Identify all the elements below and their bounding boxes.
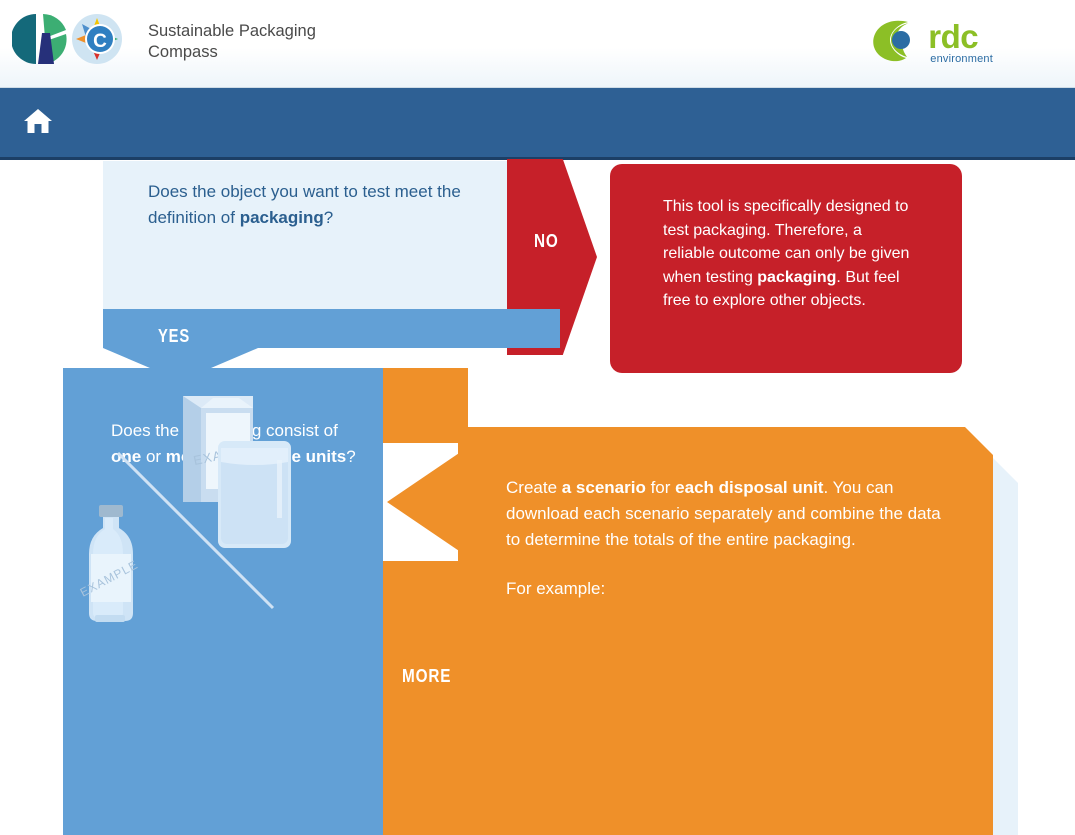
question-2-bold1: one xyxy=(111,447,141,466)
rdc-leaf-icon xyxy=(868,14,920,71)
branch-more-label: MORE xyxy=(402,666,451,687)
branch-yes-label: YES xyxy=(158,326,190,347)
branch-more-arrow xyxy=(383,368,468,835)
home-icon xyxy=(23,108,53,140)
rdc-wordmark: rdc xyxy=(928,20,993,53)
branch-no-label: NO xyxy=(534,231,559,252)
compass-logo-icon: C xyxy=(12,8,130,75)
question-1-bold: packaging xyxy=(240,208,324,227)
decision-flow: Does the object you want to test meet th… xyxy=(0,161,1075,835)
svg-text:EXAMPLE: EXAMPLE xyxy=(78,557,141,599)
answer-more-part1: Create xyxy=(506,478,562,497)
home-button[interactable] xyxy=(16,102,60,146)
question-2-text: Does the packaging consist of one or mor… xyxy=(111,418,361,470)
answer-more-text: Create a scenario for each disposal unit… xyxy=(506,475,946,553)
question-1-part2: ? xyxy=(324,208,333,227)
answer-more-bold1: a scenario xyxy=(562,478,646,497)
navbar xyxy=(0,88,1075,160)
rdc-subtitle: environment xyxy=(930,54,993,65)
brand[interactable]: C Sustainable Packaging Compass xyxy=(12,8,378,75)
question-1-text: Does the object you want to test meet th… xyxy=(148,179,478,231)
answer-more-bold2: each disposal unit xyxy=(675,478,823,497)
question-2-box: Does the packaging consist of one or mor… xyxy=(63,368,383,835)
answer-no-bold: packaging xyxy=(757,269,836,286)
app-root: C Sustainable Packaging Compass rdc envi… xyxy=(0,0,1075,835)
question-2-bold2: more disposable units xyxy=(166,447,346,466)
app-header: C Sustainable Packaging Compass rdc envi… xyxy=(0,0,1075,88)
illustration-bottle: EXAMPLE xyxy=(78,505,141,622)
answer-no-card: This tool is specifically designed to te… xyxy=(610,164,962,373)
question-2-part3: ? xyxy=(346,447,355,466)
answer-more-part2: for xyxy=(646,478,675,497)
page-title: Sustainable Packaging Compass xyxy=(148,21,378,63)
diagonal-divider-line xyxy=(118,453,273,608)
partner-logo[interactable]: rdc environment xyxy=(868,14,993,71)
answer-more-card: Create a scenario for each disposal unit… xyxy=(458,427,993,835)
question-2-part1: Does the packaging consist of xyxy=(111,421,338,440)
question-2-part2: or xyxy=(141,447,166,466)
question-1-box: Does the object you want to test meet th… xyxy=(103,161,523,309)
svg-text:C: C xyxy=(93,31,107,52)
answer-more-example-label: For example: xyxy=(506,576,605,602)
answer-no-text: This tool is specifically designed to te… xyxy=(663,195,915,313)
